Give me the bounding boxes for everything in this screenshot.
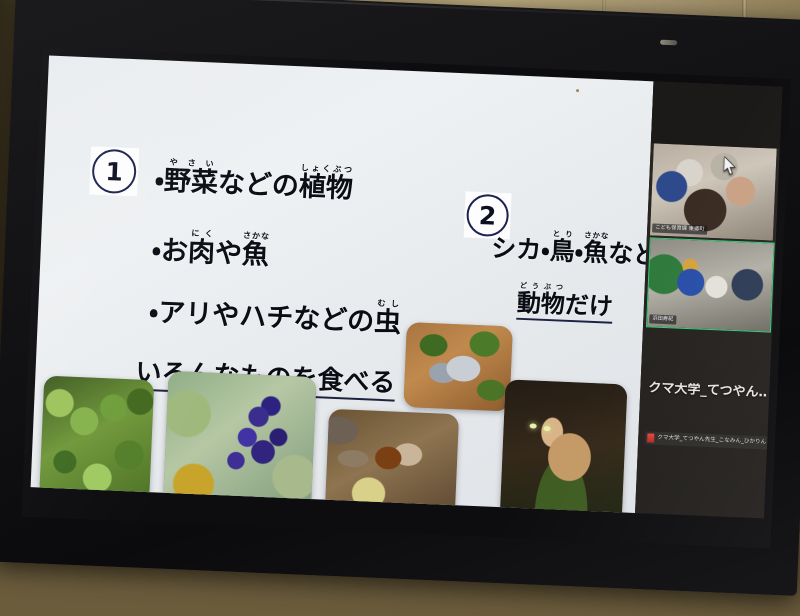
ruby-sakana: 魚さかな <box>241 239 269 271</box>
photo-green-leaves <box>39 376 154 503</box>
slide-bullet-deer-bird-fish: シカ・鳥とり・魚さかななど <box>491 227 654 272</box>
photo-wild-grapes <box>163 371 317 513</box>
meeting-title: クマ大学_てつやん… <box>648 381 767 401</box>
ruby-niku: 肉にく <box>187 237 215 269</box>
ruby-tori: 鳥とり <box>549 236 575 266</box>
ruby-sakana2: 魚さかな <box>583 238 609 268</box>
circled-number-one: 1 <box>89 146 139 196</box>
ruby-shokubutsu: 植物しょくぶつ <box>298 171 353 204</box>
meeting-subtitle: クマ大学_てつやん先生_こなみん_ひかりん <box>657 436 766 446</box>
text-ari-hachi: アリやハチなどの <box>158 297 375 337</box>
furigana-niku: にく <box>189 228 216 239</box>
furigana-mushi: むし <box>375 298 402 309</box>
furigana-sakana: さかな <box>243 230 270 241</box>
furigana-sakana2: さかな <box>584 231 609 241</box>
tv-brand-logo <box>660 40 677 46</box>
furigana-yasai: やさい <box>165 157 219 169</box>
summary-underline-wrap: 動物どうぶつだけ <box>516 289 613 324</box>
furigana-doubutsu: どうぶつ <box>517 281 565 292</box>
tv-screen: 1 ・野菜やさいなどの植物しょくぶつ ・お肉にくや魚さかな ・アリやハチなどの虫… <box>21 47 790 549</box>
slide-bullet-vegetables: ・野菜やさいなどの植物しょくぶつ <box>154 156 354 205</box>
text-ya: や <box>214 238 242 270</box>
photo-deer <box>499 379 627 513</box>
ruby-yasai: 野菜やさい <box>163 166 218 199</box>
participant-name-label: 浜田寿紀 <box>649 314 677 324</box>
presentation-slide: 1 ・野菜やさいなどの植物しょくぶつ ・お肉にくや魚さかな ・アリやハチなどの虫… <box>31 55 654 512</box>
meeting-subtitle-row[interactable]: クマ大学_てつやん先生_こなみん_ひかりん <box>645 431 770 449</box>
slide-marker-dot <box>576 89 579 92</box>
circled-one-label: 1 <box>105 159 123 185</box>
text-shika: シカ・ <box>491 234 551 265</box>
video-conference-panel: こども保育課 東郷町 浜田寿紀 クマ大学_てつやん… クマ大学_てつやん先生_こ… <box>635 81 782 518</box>
ruby-doubutsu: 動物どうぶつ <box>516 289 565 319</box>
circled-two-label: 2 <box>478 203 496 229</box>
slide-summary-animals-only: 動物どうぶつだけ <box>516 281 613 322</box>
furigana-shokubutsu: しょくぶつ <box>299 162 353 174</box>
furigana-tori: とり <box>550 229 575 239</box>
deer-eye-glow <box>530 423 537 428</box>
text-o: お <box>160 235 188 267</box>
slide-bullet-insects: ・アリやハチなどの虫むし <box>148 288 402 340</box>
slide-bullet-meat-fish: ・お肉にくや魚さかな <box>151 226 270 272</box>
photo-acorns <box>325 409 459 513</box>
participant-tile[interactable]: 浜田寿紀 <box>646 237 775 332</box>
text-nadono: などの <box>217 168 299 202</box>
television: 1 ・野菜やさいなどの植物しょくぶつ ・お肉にくや魚さかな ・アリやハチなどの虫… <box>0 0 800 596</box>
vc-stage-area <box>651 81 783 148</box>
photo-fish <box>403 322 513 411</box>
participant-tile[interactable]: こども保育課 東郷町 <box>650 143 777 240</box>
app-badge-icon <box>647 433 654 442</box>
deer-eye-glow <box>543 426 550 431</box>
text-dake: だけ <box>564 291 613 321</box>
ruby-mushi: 虫むし <box>373 307 401 339</box>
